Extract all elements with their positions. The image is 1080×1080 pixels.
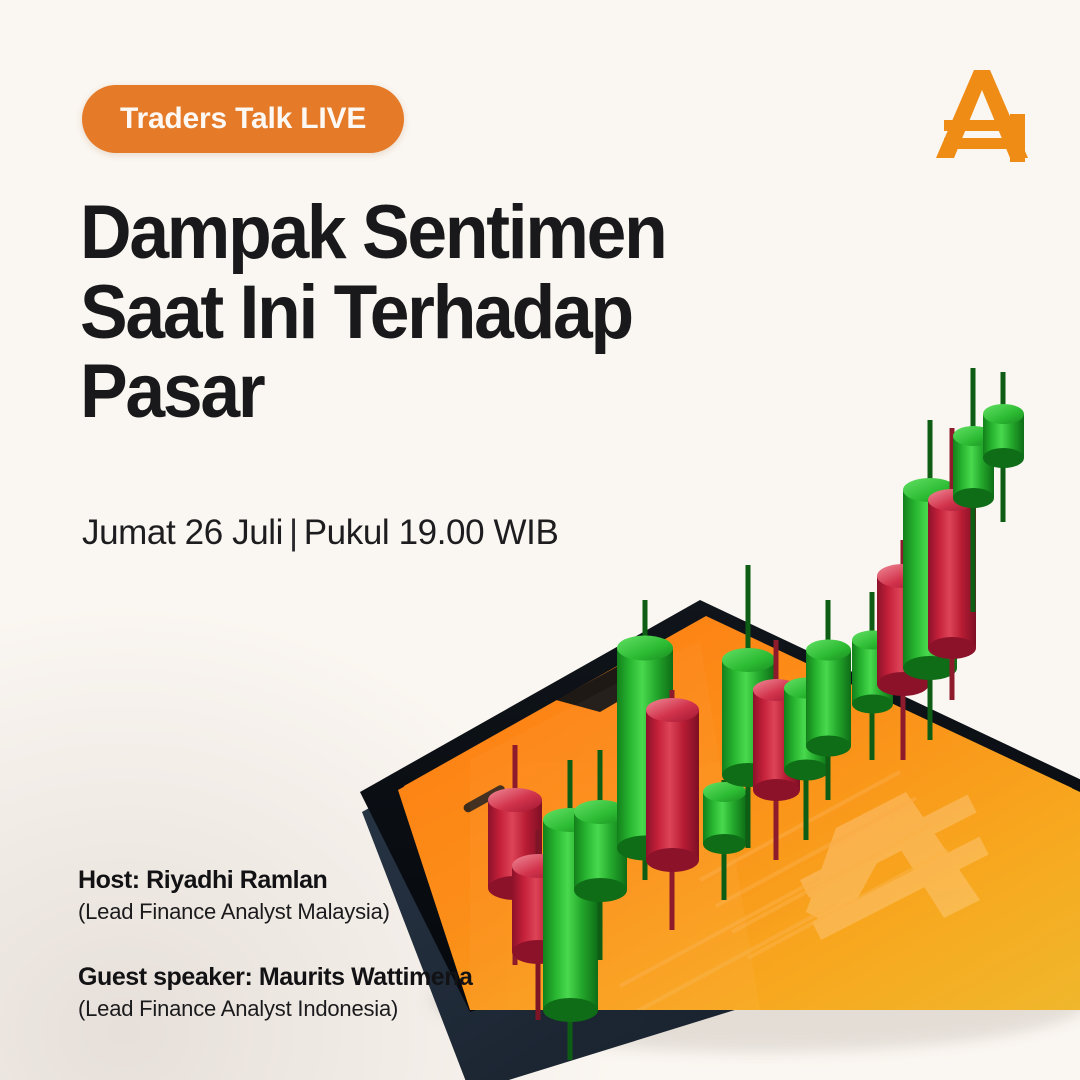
headline-line-1: Dampak Sentimen [80, 196, 794, 270]
page-title: Dampak Sentimen Saat Ini Terhadap Pasar [80, 196, 794, 435]
headline-line-2: Saat Ini Terhadap [80, 276, 794, 350]
guest-role: (Lead Finance Analyst Indonesia) [78, 996, 598, 1022]
a-monogram-watermark-icon [800, 792, 989, 940]
headline-line-3: Pasar [80, 355, 794, 429]
live-badge[interactable]: Traders Talk LIVE [82, 85, 404, 153]
host-role: (Lead Finance Analyst Malaysia) [78, 899, 598, 925]
ascendex-a-monogram-icon [928, 62, 1036, 166]
schedule-date: Jumat 26 Juli [82, 513, 283, 552]
speaker-credits: Host: Riyadhi Ramlan (Lead Finance Analy… [78, 866, 598, 1022]
schedule-line: Jumat 26 Juli|Pukul 19.00 WIB [82, 513, 558, 553]
guest-name: Guest speaker: Maurits Wattimena [78, 963, 598, 992]
live-badge-label: Traders Talk LIVE [120, 102, 366, 136]
host-name: Host: Riyadhi Ramlan [78, 866, 598, 895]
schedule-time: Pukul 19.00 WIB [304, 513, 559, 552]
poster-canvas: Traders Talk LIVE Dampak Sentimen Saat I… [0, 0, 1080, 1080]
credits-spacer [78, 925, 598, 963]
schedule-separator: | [283, 513, 304, 552]
